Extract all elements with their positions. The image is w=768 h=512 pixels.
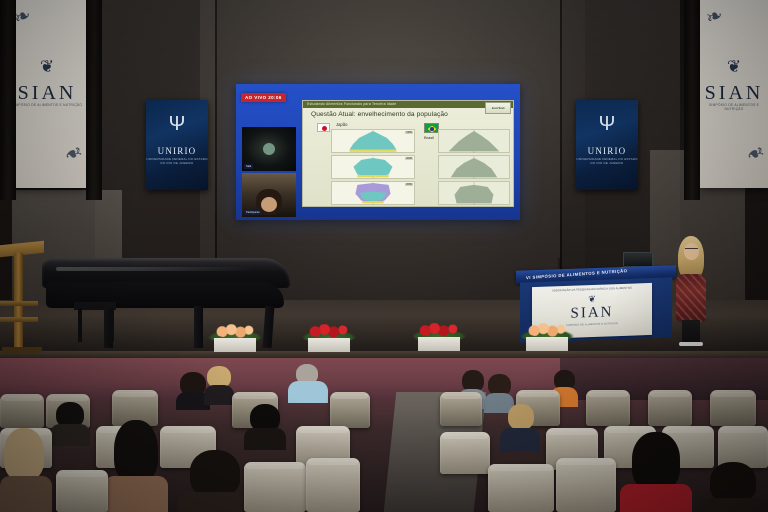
- pyramid-chart: [439, 130, 509, 153]
- camera-view-icon: [263, 143, 275, 155]
- pyramid-chart: [332, 156, 414, 179]
- unirio-banner-right: Ψ UNIRIO UNIVERSIDADE FEDERAL DO ESTADO …: [576, 100, 638, 190]
- video-conference-thumbnails: Sala Participante: [242, 127, 296, 217]
- leaf-icon: ❧: [58, 137, 86, 169]
- piano-bench-leg: [78, 308, 82, 342]
- slide-header-strip: Estudando Alimentos Funcionais para Terc…: [303, 101, 513, 108]
- thumbnail-label: Participante: [244, 210, 262, 215]
- piano-lid-shine: [56, 267, 256, 271]
- population-pyramid-japan-1950: 1950: [331, 129, 415, 153]
- speaker-presenter: [672, 236, 710, 346]
- flag-japan-icon: [317, 123, 330, 132]
- seat[interactable]: [56, 470, 108, 512]
- population-pyramid-brazil-1950: [438, 129, 510, 153]
- slide-header-text: Estudando Alimentos Funcionais para Terc…: [307, 102, 396, 106]
- piano-leg: [263, 306, 275, 349]
- thumbnail-label: Sala: [244, 164, 253, 169]
- sian-banner-right-word: SIAN: [700, 82, 768, 105]
- unirio-banner-left-word: UNIRIO: [146, 146, 208, 156]
- glasses-icon: [685, 248, 698, 251]
- participant-face: [261, 197, 277, 212]
- seat[interactable]: [306, 458, 360, 512]
- leaf-icon: ❧: [702, 2, 726, 31]
- sian-banner-right-sub: SIMPÓSIO DE ALIMENTOS E NUTRIÇÃO: [700, 104, 768, 112]
- slide-right-country-label: Brasil: [424, 135, 434, 140]
- flower-planter: [518, 317, 576, 351]
- flag-brazil-globe: [430, 127, 434, 131]
- unirio-banner-left: Ψ UNIRIO UNIVERSIDADE FEDERAL DO ESTADO …: [146, 100, 208, 190]
- seat[interactable]: [330, 392, 370, 428]
- unirio-logo-icon: Ψ: [146, 114, 208, 134]
- list-item: Participante: [242, 173, 296, 217]
- flower-planter: [206, 318, 264, 352]
- lectern-shelf: [0, 301, 38, 306]
- planter-box: [526, 337, 568, 351]
- audience-member: [178, 450, 252, 512]
- seat[interactable]: [556, 458, 616, 512]
- pyramid-year: 2000: [405, 157, 413, 160]
- audience-member: [500, 404, 540, 448]
- unirio-logo-icon: Ψ: [576, 114, 638, 134]
- pyramid-year: 1950: [405, 131, 413, 134]
- flag-brazil-icon: [424, 123, 439, 133]
- seat[interactable]: [440, 432, 490, 474]
- planter-box: [308, 338, 350, 352]
- sian-banner-right: ❧ ❦ SIAN SIMPÓSIO DE ALIMENTOS E NUTRIÇÃ…: [700, 0, 768, 188]
- curtain-right-inner: [684, 0, 700, 200]
- speaker-shoes: [679, 342, 703, 346]
- pyramid-year: 2050: [405, 183, 413, 186]
- flower-planter: [410, 317, 468, 351]
- event-banner-title: VI SIMPÓSIO DE ALIMENTOS E NUTRIÇÃO: [526, 268, 627, 280]
- pyramid-chart: [332, 130, 414, 153]
- speaker-body: [676, 274, 706, 322]
- audience-member: [484, 374, 514, 408]
- population-pyramid-japan-2000: 2000: [331, 155, 415, 179]
- seat[interactable]: [586, 390, 630, 426]
- table-microphone: [558, 258, 560, 269]
- planter-blooms: [212, 324, 258, 338]
- audience-member: [700, 462, 768, 512]
- slide-title: Questão Atual: envelhecimento da populaç…: [311, 111, 448, 118]
- projection-screen: AO VIVO 20:06 Sala Participante Estudand…: [236, 84, 520, 220]
- pyramid-chart: [332, 182, 414, 205]
- laptop-screen: [623, 252, 653, 267]
- audience-member: [244, 404, 286, 446]
- audience-member: [0, 428, 52, 512]
- lectern-base: [2, 347, 42, 353]
- live-badge: AO VIVO 20:06: [241, 93, 286, 102]
- planter-box: [214, 338, 256, 352]
- pyramid-chart: [439, 156, 509, 179]
- planter-blooms: [524, 323, 570, 337]
- cloth-top-text: ASSOCIAÇÃO DA PESQUISA EM CIÊNCIA DOS AL…: [532, 286, 652, 293]
- slide-sponsor-logo: incor'fond: [485, 102, 511, 114]
- population-pyramid-japan-2050: 2050: [331, 181, 415, 205]
- flower-planter: [300, 318, 358, 352]
- leaf-branch-icon: ❦: [8, 58, 86, 75]
- unirio-banner-right-sub: UNIVERSIDADE FEDERAL DO ESTADO DO RIO DE…: [576, 158, 638, 166]
- audience-member: [104, 420, 168, 512]
- flag-japan-sun: [322, 126, 328, 132]
- sian-banner-left: ❧ ❦ SIAN SIMPÓSIO DE ALIMENTOS E NUTRIÇÃ…: [8, 0, 86, 188]
- curtain-left-inner: [86, 0, 102, 200]
- population-pyramid-brazil-2000: [438, 155, 510, 179]
- slide-left-country-label: Japão: [336, 122, 347, 127]
- planter-blooms: [306, 324, 352, 338]
- population-pyramid-brazil-2050: [438, 181, 510, 205]
- wooden-lectern: [0, 243, 44, 355]
- audience-member: [620, 432, 692, 512]
- sian-banner-left-word: SIAN: [8, 82, 86, 105]
- seat[interactable]: [244, 462, 306, 512]
- piano-leg: [194, 306, 203, 348]
- seat[interactable]: [488, 464, 554, 512]
- seat[interactable]: [710, 390, 756, 426]
- pyramid-chart: [439, 182, 509, 205]
- unirio-banner-right-word: UNIRIO: [576, 146, 638, 156]
- auditorium-scene: ❧ ❦ SIAN SIMPÓSIO DE ALIMENTOS E NUTRIÇÃ…: [0, 0, 768, 512]
- curtain-left: [0, 0, 16, 200]
- audience-member: [50, 402, 90, 442]
- seat[interactable]: [648, 390, 692, 426]
- leaf-branch-icon: ❦: [700, 58, 768, 75]
- planter-blooms: [416, 323, 462, 337]
- audience-area: [0, 358, 768, 512]
- piano-bench-leg: [110, 308, 114, 342]
- speaker-face: [684, 243, 699, 260]
- speaker-outfit-pattern: [676, 274, 706, 322]
- audience-member: [288, 364, 328, 402]
- leaf-icon: ❧: [740, 137, 768, 169]
- lectern-shelf: [0, 317, 38, 322]
- seat[interactable]: [0, 394, 44, 428]
- audience-member: [204, 366, 234, 402]
- seat[interactable]: [440, 392, 482, 426]
- planter-box: [418, 337, 460, 351]
- list-item: Sala: [242, 127, 296, 171]
- presentation-slide: Estudando Alimentos Funcionais para Terc…: [302, 100, 514, 207]
- unirio-banner-left-sub: UNIVERSIDADE FEDERAL DO ESTADO DO RIO DE…: [146, 158, 208, 166]
- sian-banner-left-sub: SIMPÓSIO DE ALIMENTOS E NUTRIÇÃO: [8, 104, 86, 108]
